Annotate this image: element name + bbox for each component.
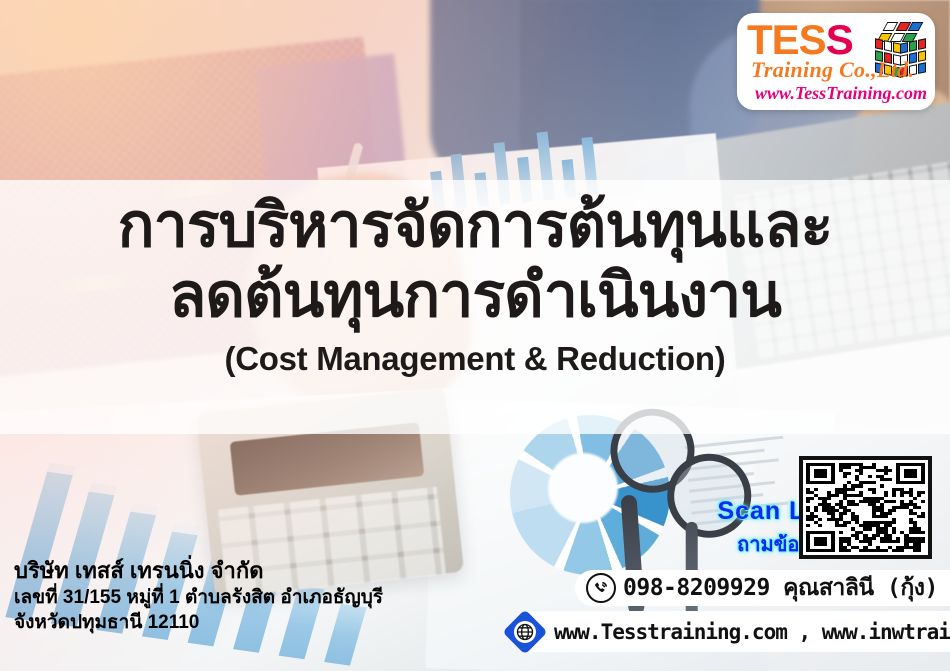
course-title-block: การบริหารจัดการต้นทุนและ ลดต้นทุนการดำเน… xyxy=(0,196,950,378)
address-street: เลขที่ 31/155 หมู่ที่ 1 ตำบลรังสิต อำเภอ… xyxy=(14,585,444,610)
phone-contact-row[interactable]: 098-8209929 คุณสาลินี (กุ้ง) xyxy=(586,572,938,604)
course-title-line1: การบริหารจัดการต้นทุนและ xyxy=(0,196,950,256)
company-address-block: บริษัท เทสส์ เทรนนิ่ง จำกัด เลขที่ 31/15… xyxy=(14,556,444,635)
logo-company-type: Training Co.,Ltd. xyxy=(751,57,914,83)
course-title-line2: ลดต้นทุนการดำเนินงาน xyxy=(0,266,950,326)
website-contact-row[interactable]: www.Tesstraining.com , www.inwtraining.c… xyxy=(505,612,950,651)
address-province: จังหวัดปทุมธานี 12110 xyxy=(14,610,444,635)
website-text: www.Tesstraining.com , www.inwtraining.c… xyxy=(554,620,950,644)
address-company-name: บริษัท เทสส์ เทรนนิ่ง จำกัด xyxy=(14,556,444,585)
qr-code-icon[interactable] xyxy=(799,456,932,559)
phone-number-text: 098-8209929 คุณสาลินี (กุ้ง) xyxy=(623,570,938,606)
logo-brand-name-last: S xyxy=(826,16,853,63)
course-title-subtitle: (Cost Management & Reduction) xyxy=(0,340,950,378)
phone-icon xyxy=(586,573,616,603)
tess-logo-card[interactable]: TESS Training Co.,Ltd. www.TessTraining.… xyxy=(737,13,935,110)
logo-brand-name: TESS xyxy=(747,19,853,61)
logo-website[interactable]: www.TessTraining.com xyxy=(755,83,927,104)
globe-icon xyxy=(505,612,545,652)
training-course-poster: TESS Training Co.,Ltd. www.TessTraining.… xyxy=(0,0,950,671)
logo-brand-name-first: TES xyxy=(747,16,826,63)
